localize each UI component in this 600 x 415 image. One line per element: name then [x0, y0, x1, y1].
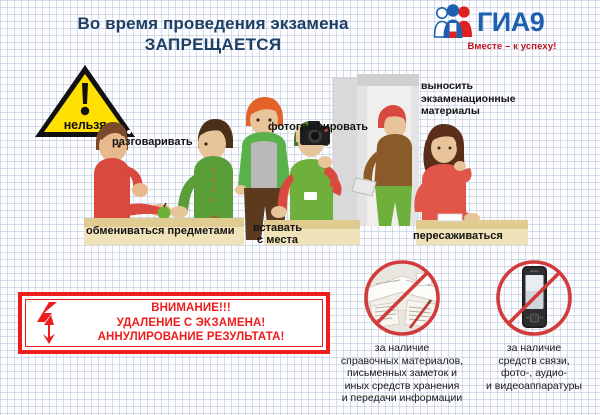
lightning-bolt-icon [26, 301, 70, 345]
label-changing-seats: пересаживаться [413, 231, 503, 242]
exam-prohibition-poster: Во время проведения экзамена ЗАПРЕЩАЕТСЯ [0, 0, 600, 415]
caption-line-2: средств связи, [470, 355, 598, 368]
prohibition-reference-materials: за наличие справочных материалов, письме… [332, 258, 472, 405]
caption-line-4: и видеоаппаратуры [470, 380, 598, 393]
label-carrying-out: выносить экзаменационные материалы [421, 80, 516, 118]
label-talking: разговаривать [112, 137, 193, 148]
caption-line-1: за наличие [332, 342, 472, 355]
caption-line-4: иных средств хранения [332, 380, 472, 393]
label-standing-up: вставать с места [253, 222, 302, 246]
prohibition-communication-devices: за наличие средств связи, фото-, аудио- … [470, 258, 598, 392]
label-photographing: фотографировать [268, 122, 368, 133]
caption-line-1: за наличие [470, 342, 598, 355]
label-carrying-out-line-3: материалы [421, 105, 516, 118]
prohibition-communication-devices-caption: за наличие средств связи, фото-, аудио- … [470, 342, 598, 392]
label-swapping-items: обмениваться предметами [86, 226, 234, 237]
attention-warning-text: ВНИМАНИЕ!!! УДАЛЕНИЕ С ЭКЗАМЕНА! АННУЛИР… [70, 301, 322, 345]
student-receiving-item [170, 119, 233, 220]
attention-warning-box: ВНИМАНИЕ!!! УДАЛЕНИЕ С ЭКЗАМЕНА! АННУЛИР… [18, 292, 330, 354]
page-title: Во время проведения экзамена ЗАПРЕЩАЕТСЯ [28, 14, 398, 55]
logo-slogan: Вместе – к успеху! [432, 41, 592, 52]
student-changing-seats [414, 124, 480, 223]
gia9-logo: ГИА9 Вместе – к успеху! [432, 4, 592, 52]
title-line-2: ЗАПРЕЩАЕТСЯ [28, 34, 398, 55]
attention-line-1: ВНИМАНИЕ!!! [70, 301, 312, 316]
no-mobile-phone-icon [494, 258, 574, 338]
title-line-1: Во время проведения экзамена [28, 14, 398, 34]
label-standing-up-line-1: вставать [253, 222, 302, 234]
prohibition-reference-materials-caption: за наличие справочных материалов, письме… [332, 342, 472, 405]
label-carrying-out-line-2: экзаменационные [421, 93, 516, 106]
caption-line-5: и передачи информации [332, 392, 472, 405]
label-carrying-out-line-1: выносить [421, 80, 516, 93]
attention-line-2: УДАЛЕНИЕ С ЭКЗАМЕНА! [70, 316, 312, 331]
gia9-emblem-icon [432, 4, 476, 40]
label-standing-up-line-2: с места [253, 234, 302, 246]
caption-line-3: фото-, аудио- [470, 367, 598, 380]
caption-line-3: письменных заметок и [332, 367, 472, 380]
logo-wordmark: ГИА9 [477, 7, 544, 37]
attention-line-3: АННУЛИРОВАНИЕ РЕЗУЛЬТАТА! [70, 330, 312, 345]
caption-line-2: справочных материалов, [332, 355, 472, 368]
no-reference-materials-icon [362, 258, 442, 338]
